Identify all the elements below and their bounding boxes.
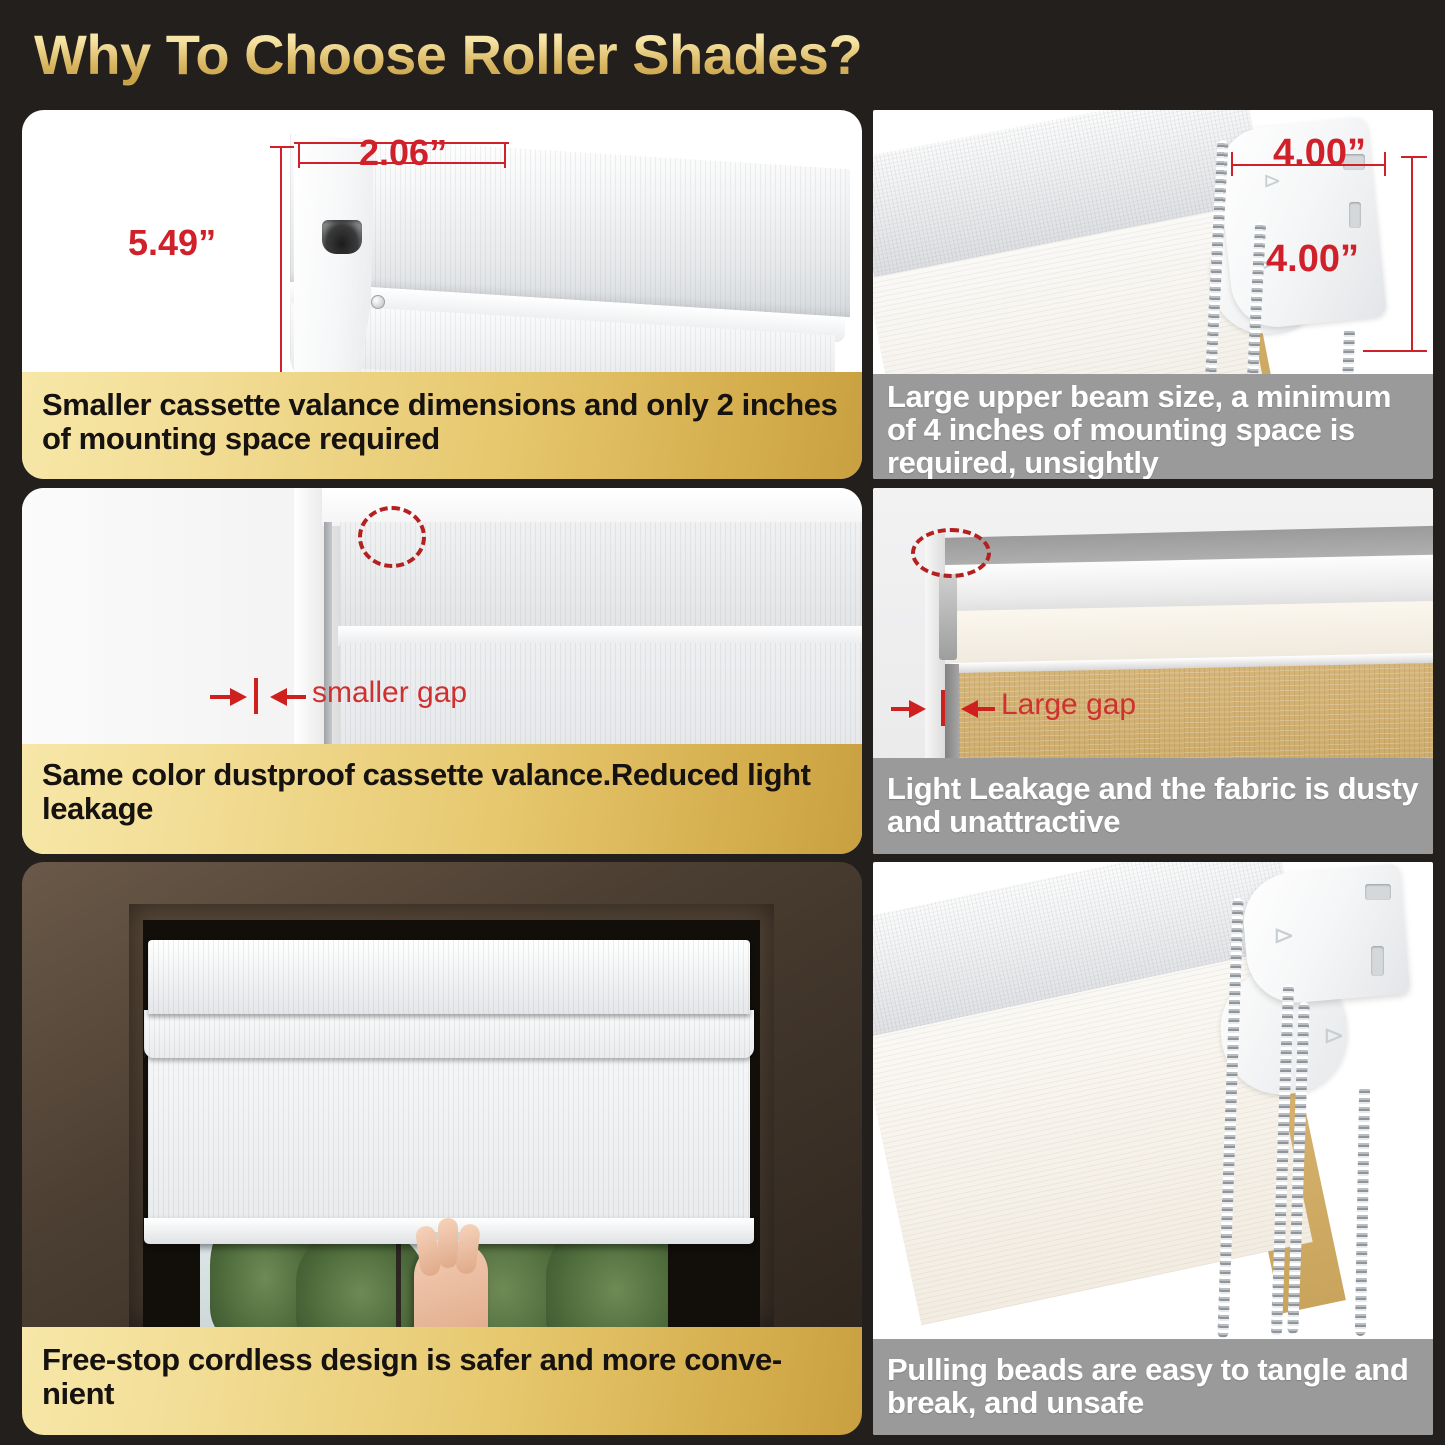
highlight-circle-icon: [358, 506, 426, 568]
bracket-screw-icon: [371, 295, 385, 309]
panel-pulling-beads: ⊳ ⊳ Pulling beads are easy to tangle and…: [873, 862, 1433, 1435]
beam-height-dim-line: [1411, 156, 1413, 352]
panel-caption: Large upper beam size, a minimum of 4 in…: [873, 374, 1433, 479]
bead-chain-4: [1355, 1086, 1370, 1336]
gap-arrow-left-stem: [210, 695, 232, 699]
gap-arrow-right-stem: [286, 695, 306, 699]
panel-caption: Pulling beads are easy to tangle and bre…: [873, 1339, 1433, 1435]
gap-arrow-left-icon: [230, 688, 247, 706]
bracket-marking-icon-2: ⊳: [1323, 1020, 1345, 1051]
header: Why To Choose Roller Shades?: [0, 14, 1445, 96]
beam-width-tick-left: [1231, 152, 1233, 176]
large-gap-label: Large gap: [1001, 688, 1136, 722]
gap-arrow-right-icon: [961, 700, 978, 718]
panel-caption: Smaller cassette valance dimensions and …: [22, 372, 862, 479]
beam-height-tick-bottom: [1363, 350, 1427, 352]
gap-arrow-right-icon: [270, 688, 287, 706]
gap-arrow-right-stem: [977, 707, 995, 711]
beam-height-tick-top: [1401, 156, 1427, 158]
width-dimension-label: 2.06”: [359, 132, 447, 174]
beam-width-tick-right: [1384, 152, 1386, 176]
smaller-gap-label: smaller gap: [312, 676, 467, 710]
bracket-slot-icon: [1365, 884, 1391, 900]
cassette-valance: [148, 940, 750, 1014]
panel-caption: Free-stop cordless design is safer and m…: [22, 1327, 862, 1435]
height-dimension-label: 5.49”: [128, 222, 216, 264]
panel-caption: Same color dustproof cassette valance.Re…: [22, 744, 862, 854]
gap-tick-mark: [941, 690, 945, 726]
shade-roller: [144, 1010, 754, 1058]
bracket-slot-icon-2: [1349, 202, 1361, 228]
shade-fabric: [148, 1055, 750, 1225]
bracket-slot-icon-2: [1371, 946, 1384, 976]
panel-cordless-design: Free-stop cordless design is safer and m…: [22, 862, 862, 1435]
gap-arrow-left-stem: [891, 707, 911, 711]
panel-light-leakage: Large gap Light Leakage and the fabric i…: [873, 488, 1433, 854]
beam-width-label: 4.00”: [1273, 132, 1366, 175]
bracket-marking-icon: ⊳: [1273, 920, 1295, 951]
highlight-circle-icon: [911, 528, 991, 578]
panel-cassette-valance: 2.06” 5.49” Smaller cassette valance dim…: [22, 110, 862, 479]
finger-2: [438, 1218, 458, 1268]
bracket-slot-icon: [322, 220, 362, 254]
gap-tick-mark: [254, 678, 258, 714]
beam-height-label: 4.00”: [1266, 238, 1359, 281]
width-dim-tick-left: [298, 144, 300, 168]
width-dim-tick-right: [504, 144, 506, 168]
page-title: Why To Choose Roller Shades?: [0, 14, 1445, 96]
gap-arrow-left-icon: [909, 700, 926, 718]
panel-large-upper-beam: ⊳ ⊳ 4.00” 4.00” Large upper beam size, a…: [873, 110, 1433, 479]
comparison-grid: 2.06” 5.49” Smaller cassette valance dim…: [0, 104, 1445, 1445]
panel-caption: Light Leakage and the fabric is dusty an…: [873, 758, 1433, 854]
mounting-clip: [939, 574, 957, 660]
height-dim-tick-top: [270, 146, 294, 148]
panel-dustproof-cassette: smaller gap Same color dustproof cassett…: [22, 488, 862, 854]
